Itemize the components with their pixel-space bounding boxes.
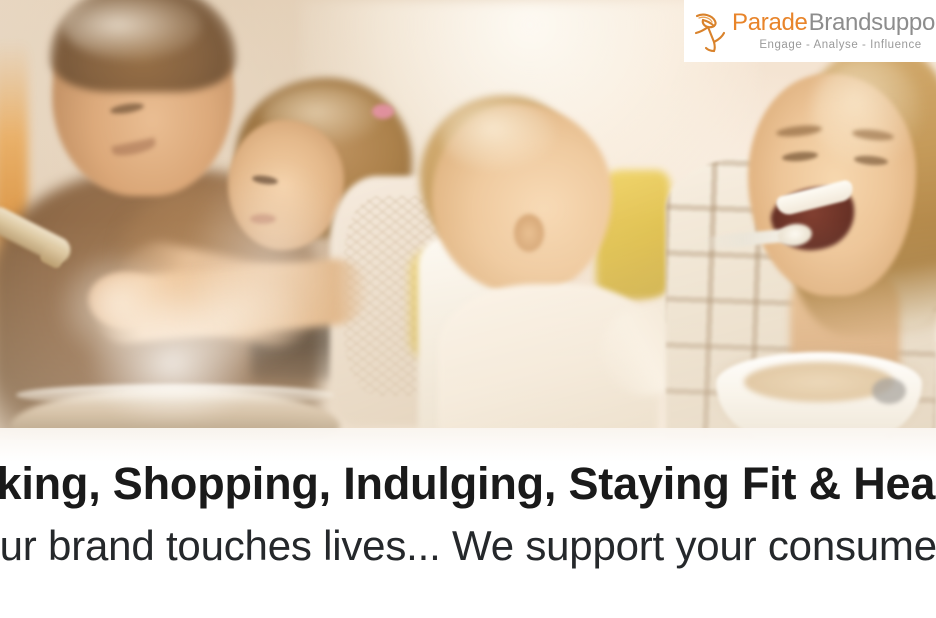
mother-hair-highlight	[812, 56, 922, 166]
presentation-slide: ParadeBrandsupport Engage - Analyse - In…	[0, 0, 936, 618]
logo-text-block: ParadeBrandsupport Engage - Analyse - In…	[732, 11, 936, 52]
headline-row: Cooking, Shopping, Indulging, Staying Fi…	[0, 458, 936, 510]
steam-plume-upper	[150, 120, 390, 370]
logo-word-parade: Parade	[732, 9, 808, 36]
bowl-contents	[744, 362, 894, 402]
caption-band: Cooking, Shopping, Indulging, Staying Fi…	[0, 428, 936, 618]
brand-logo[interactable]: ParadeBrandsupport Engage - Analyse - In…	[684, 0, 936, 62]
caption-headline: Cooking, Shopping, Indulging, Staying Fi…	[0, 458, 936, 509]
baby-hair-highlight	[440, 100, 556, 170]
band-top-feather	[0, 428, 936, 462]
logo-wordmark: ParadeBrandsupport	[732, 11, 936, 35]
caption-subline: Your brand touches lives... We support y…	[0, 522, 936, 569]
logo-word-brandsupport: Brandsupport	[809, 9, 936, 36]
baby-ear	[514, 214, 544, 252]
parade-dancer-figure-icon	[690, 9, 730, 53]
subline-row: Your brand touches lives... We support y…	[0, 522, 936, 570]
girl-hair-tie	[372, 104, 394, 119]
bowl-pattern-dot	[872, 378, 906, 404]
hero-photo	[0, 0, 936, 440]
logo-tagline: Engage - Analyse - Influence	[732, 40, 936, 52]
